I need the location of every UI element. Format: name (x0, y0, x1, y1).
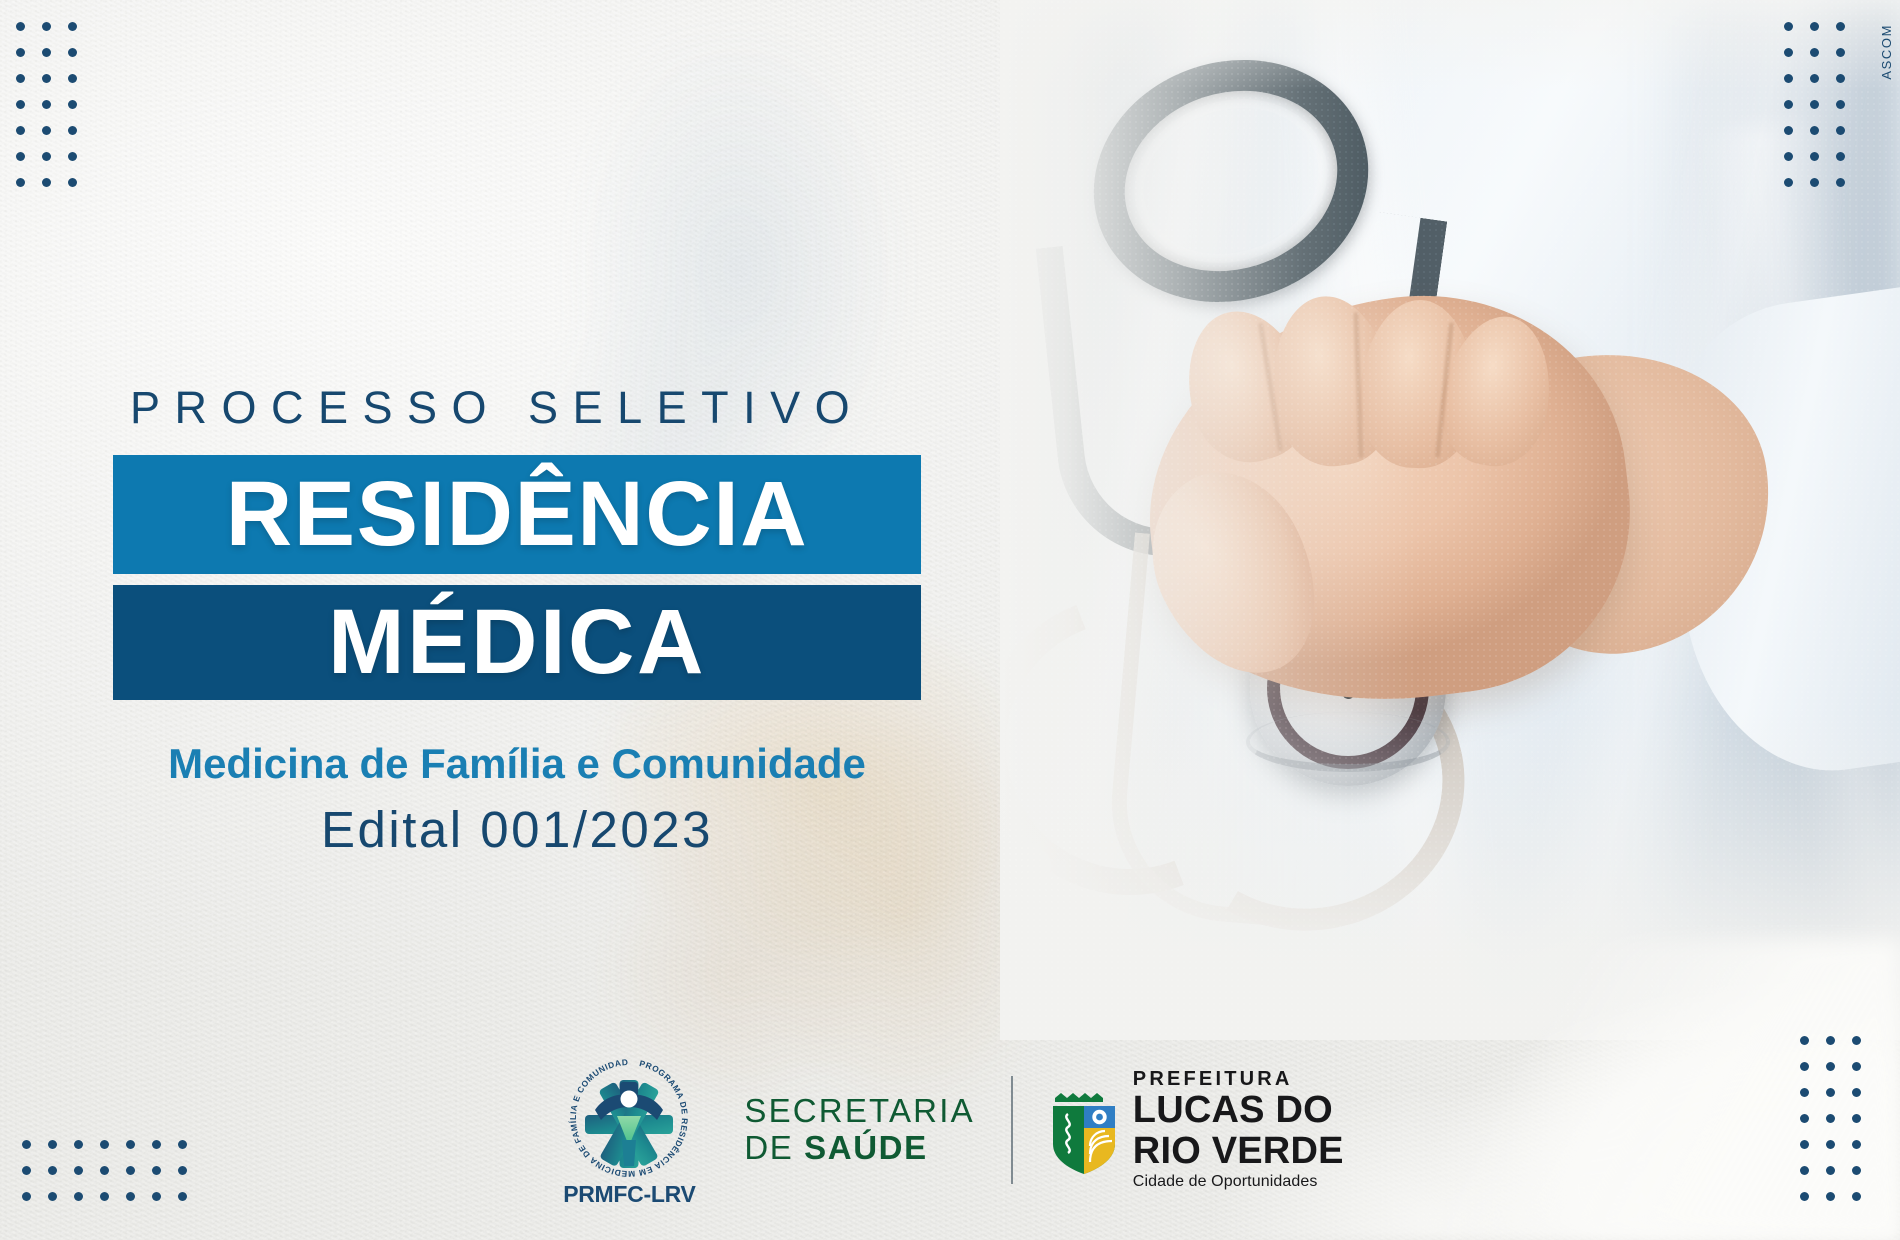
prefeitura-line-2: LUCAS DO (1133, 1090, 1344, 1130)
prefeitura-tagline: Cidade de Oportunidades (1133, 1174, 1344, 1191)
title-bar-medica: MÉDICA (113, 585, 921, 700)
prefeitura-text-block: PREFEITURA LUCAS DO RIO VERDE Cidade de … (1133, 1069, 1344, 1191)
program-subtitle: Medicina de Família e Comunidade (113, 740, 921, 788)
footer-logo-row: PROGRAMA DE RESIDÊNCIA EM MEDICINA DE FA… (0, 1054, 1900, 1206)
title-line-1: RESIDÊNCIA (226, 462, 808, 567)
prefeitura-coat-of-arms-icon (1049, 1084, 1119, 1176)
ascom-credit: ASCOM (1879, 24, 1894, 80)
kicker-text: PROCESSO SELETIVO (130, 382, 864, 434)
poster-canvas: ASCOM PROCESSO SELETIVO RESIDÊNCIA MÉDIC… (0, 0, 1900, 1240)
edital-number: Edital 001/2023 (113, 800, 921, 859)
prmfc-acronym: PRMFC-LRV (556, 1181, 702, 1208)
prmfc-emblem-icon: PROGRAMA DE RESIDÊNCIA EM MEDICINA DE FA… (565, 1054, 693, 1182)
logo-divider (1011, 1076, 1013, 1184)
title-line-2: MÉDICA (328, 590, 706, 695)
dot-grid-top-right (1784, 22, 1862, 204)
prefeitura-line-3: RIO VERDE (1133, 1131, 1344, 1171)
secretaria-line-2: DE SAÚDE (744, 1130, 974, 1167)
title-bar-residencia: RESIDÊNCIA (113, 455, 921, 574)
prmfc-logo: PROGRAMA DE RESIDÊNCIA EM MEDICINA DE FA… (556, 1054, 702, 1206)
secretaria-saude-logo: SECRETARIA DE SAÚDE (744, 1093, 974, 1167)
secretaria-line-2-bold: SAÚDE (804, 1129, 928, 1166)
secretaria-line-1: SECRETARIA (744, 1093, 974, 1130)
secretaria-line-2-prefix: DE (744, 1129, 804, 1166)
prefeitura-line-1: PREFEITURA (1133, 1069, 1344, 1090)
dot-grid-top-left (16, 22, 94, 204)
prefeitura-logo: PREFEITURA LUCAS DO RIO VERDE Cidade de … (1049, 1069, 1344, 1191)
